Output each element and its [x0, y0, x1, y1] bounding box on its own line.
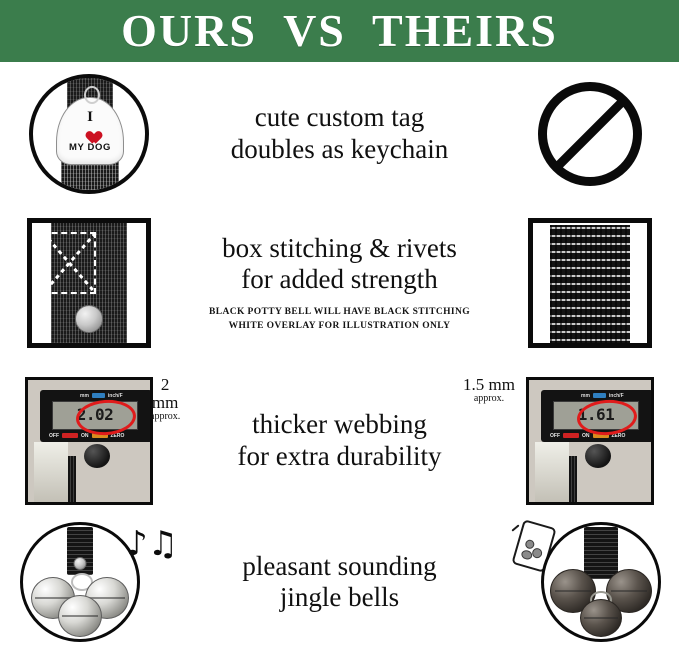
- circle-photo-frame: I MY DOG: [29, 74, 149, 194]
- jingle-bell: [58, 595, 102, 637]
- caliper-on-label: ON: [582, 433, 590, 439]
- shake-motion-line: [511, 524, 519, 531]
- caliper-thumb-knob: [84, 444, 110, 468]
- row-4-caption: pleasant sounding jingle bells: [242, 551, 436, 614]
- caliper-jaw: [535, 442, 569, 502]
- plain-webbing-strap: [550, 225, 630, 348]
- pebble: [531, 547, 543, 559]
- heart-icon: [83, 126, 98, 140]
- caliper-thumb-knob: [585, 444, 611, 468]
- ours-box-stitching-photo: [0, 203, 178, 363]
- no-tag-prohibition-icon: [538, 82, 642, 186]
- strap-rivet: [74, 557, 87, 570]
- comparison-row-custom-tag: I MY DOG cute custom tag doubles as keyc…: [0, 66, 679, 201]
- comparison-row-jingle-bells: ♪♫ pleasant sounding jingle bells: [0, 515, 679, 649]
- caliper-power-button[interactable]: [62, 433, 78, 438]
- caliper-power-button[interactable]: [563, 433, 579, 438]
- ours-measurement-label: 2 mm approx.: [150, 376, 180, 422]
- caliper-unit-controls: mm inch/F: [581, 393, 624, 399]
- row-3-caption-block: thicker webbing for extra durability: [178, 368, 501, 513]
- caliper-unit-button[interactable]: [593, 393, 606, 398]
- row-1-caption: cute custom tag doubles as keychain: [231, 102, 448, 165]
- theirs-plain-webbing-photo: [501, 203, 679, 363]
- ours-dog-tag-photo: I MY DOG: [0, 66, 178, 201]
- theirs-dull-bells-photo: [501, 515, 679, 649]
- theirs-no-tag-cell: [501, 66, 679, 201]
- caliper-inch-label: inch/F: [609, 393, 624, 399]
- caliper-body: mm inch/F 2.02 OFF ON ZERO: [40, 390, 152, 442]
- theirs-caliper-photo: 1.5 mm approx. mm inch/F 1.61 OFF: [501, 368, 679, 513]
- caliper-photo-frame: mm inch/F 2.02 OFF ON ZERO: [25, 377, 153, 505]
- ours-measurement-note: approx.: [150, 412, 180, 423]
- split-ring-icon: [84, 86, 100, 104]
- caliper-mm-label: mm: [581, 393, 590, 399]
- comparison-row-box-stitching: box stitching & rivets for added strengt…: [0, 203, 679, 363]
- square-photo-frame: [27, 218, 151, 348]
- row-1-caption-block: cute custom tag doubles as keychain: [178, 66, 501, 201]
- bell-hanging-strap: [584, 527, 618, 579]
- square-photo-frame: [528, 218, 652, 348]
- theirs-measurement-note: approx.: [463, 394, 515, 405]
- row-3-caption: thicker webbing for extra durability: [238, 409, 442, 472]
- row-2-disclaimer: BLACK POTTY BELL WILL HAVE BLACK STITCHI…: [209, 305, 470, 334]
- caliper-unit-button[interactable]: [92, 393, 105, 398]
- row-4-caption-block: pleasant sounding jingle bells: [178, 515, 501, 649]
- ours-jingle-bells-photo: ♪♫: [0, 515, 178, 649]
- row-2-caption-block: box stitching & rivets for added strengt…: [178, 203, 501, 363]
- ours-caliper-photo: mm inch/F 2.02 OFF ON ZERO 2 mm ap: [0, 368, 178, 513]
- music-notes-icon: ♪♫: [126, 527, 178, 561]
- caliper-body: mm inch/F 1.61 OFF ON ZERO: [541, 390, 653, 442]
- circle-photo-frame: [20, 522, 140, 642]
- caliper-inch-label: inch/F: [108, 393, 123, 399]
- prohibition-slash: [555, 98, 625, 168]
- page-title: OURS VS THEIRS: [121, 8, 558, 54]
- row-2-caption: box stitching & rivets for added strengt…: [222, 233, 457, 296]
- caliper-off-label: OFF: [49, 433, 59, 439]
- dog-tag-line-1: I: [87, 110, 93, 125]
- caliper-on-label: ON: [81, 433, 89, 439]
- circle-photo-frame: [541, 522, 661, 642]
- comparison-row-webbing-thickness: mm inch/F 2.02 OFF ON ZERO 2 mm ap: [0, 368, 679, 513]
- jingle-bell: [580, 599, 622, 637]
- pebble: [520, 549, 533, 561]
- caliper-photo-frame: mm inch/F 1.61 OFF ON ZERO: [526, 377, 654, 505]
- caliper-unit-controls: mm inch/F: [80, 393, 123, 399]
- dog-tag-line-2: MY DOG: [69, 143, 111, 153]
- caliper-off-label: OFF: [550, 433, 560, 439]
- box-stitch-overlay-icon: [42, 232, 96, 294]
- rivet: [75, 305, 103, 333]
- theirs-measurement-label: 1.5 mm approx.: [463, 376, 515, 404]
- theirs-measurement-value: 1.5 mm: [463, 376, 515, 394]
- ours-measurement-value: 2 mm: [150, 376, 180, 412]
- caliper-mm-label: mm: [80, 393, 89, 399]
- header-banner: OURS VS THEIRS: [0, 0, 679, 62]
- caliper-jaw: [34, 442, 68, 502]
